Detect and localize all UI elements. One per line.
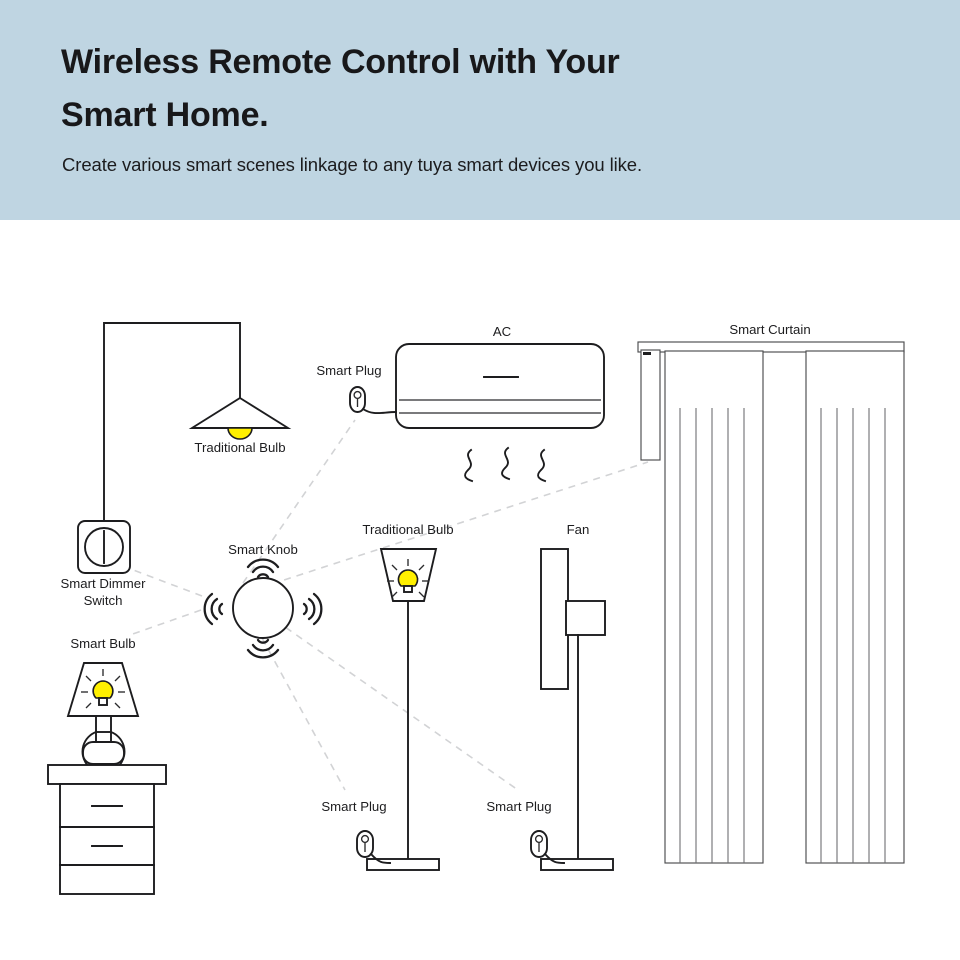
ac-smart-plug[interactable]: Smart Plug bbox=[316, 363, 396, 413]
nightstand-top bbox=[48, 765, 166, 784]
fan-motor-housing bbox=[566, 601, 605, 635]
smart-bulb-bulb-icon bbox=[93, 681, 113, 698]
pendant-lamp-bulb-icon bbox=[228, 428, 252, 439]
diagram-canvas: Traditional Bulb Smart Dimmer Switch Sma… bbox=[0, 220, 960, 960]
smart-dimmer-switch-label-line2: Switch bbox=[84, 593, 123, 608]
floor-lamp-socket bbox=[404, 586, 412, 592]
smart-bulb-lamp[interactable]: Smart Bulb bbox=[48, 636, 166, 894]
floor-lamp[interactable]: Traditional Bulb bbox=[362, 522, 453, 870]
pendant-lamp-wire bbox=[104, 323, 240, 540]
link-knob-to-smart-bulb bbox=[130, 610, 201, 635]
ac-smart-plug-cord bbox=[363, 409, 396, 413]
smart-curtain-label: Smart Curtain bbox=[729, 322, 810, 337]
page-subtitle: Create various smart scenes linkage to a… bbox=[62, 154, 902, 176]
floor-lamp-smart-plug[interactable]: Smart Plug bbox=[321, 799, 390, 863]
air-conditioner-label: AC bbox=[493, 324, 512, 339]
page-root: Wireless Remote Control with Your Smart … bbox=[0, 0, 960, 960]
smart-dimmer-switch[interactable]: Smart Dimmer Switch bbox=[61, 521, 147, 608]
air-conditioner-airflow-icon bbox=[465, 448, 545, 481]
floor-lamp-bulb-icon bbox=[398, 570, 417, 586]
smart-knob-signal-right-icon bbox=[304, 594, 321, 624]
smart-bulb-lamp-base-bottom bbox=[83, 742, 124, 764]
link-knob-to-floorlamp-plug bbox=[256, 627, 345, 790]
smart-knob-label: Smart Knob bbox=[228, 542, 298, 557]
link-knob-to-fan-plug bbox=[275, 620, 518, 790]
air-conditioner[interactable]: AC bbox=[396, 324, 604, 481]
smart-knob-dial[interactable] bbox=[233, 578, 293, 638]
page-title: Wireless Remote Control with Your Smart … bbox=[61, 36, 741, 142]
fan-smart-plug[interactable]: Smart Plug bbox=[486, 799, 564, 863]
pendant-lamp-shade bbox=[192, 398, 288, 428]
pendant-lamp-label: Traditional Bulb bbox=[194, 440, 285, 455]
fan-label: Fan bbox=[567, 522, 590, 537]
header-band: Wireless Remote Control with Your Smart … bbox=[0, 0, 960, 220]
smart-bulb-label: Smart Bulb bbox=[70, 636, 135, 651]
smart-knob-signal-down-icon bbox=[248, 640, 278, 657]
smart-curtain-motor-indicator-icon bbox=[643, 352, 651, 355]
fan-smart-plug-label: Smart Plug bbox=[486, 799, 551, 814]
fan[interactable]: Fan bbox=[541, 522, 613, 870]
floor-lamp-smart-plug-label: Smart Plug bbox=[321, 799, 386, 814]
smart-knob-signal-left-icon bbox=[205, 594, 222, 624]
air-conditioner-body[interactable] bbox=[396, 344, 604, 428]
smart-home-diagram: Traditional Bulb Smart Dimmer Switch Sma… bbox=[0, 220, 960, 960]
floor-lamp-label: Traditional Bulb bbox=[362, 522, 453, 537]
nightstand-body bbox=[60, 784, 154, 894]
fan-head[interactable] bbox=[541, 549, 568, 689]
smart-curtain[interactable]: Smart Curtain bbox=[638, 322, 904, 863]
smart-curtain-motor[interactable] bbox=[641, 350, 660, 460]
smart-bulb-socket bbox=[99, 698, 107, 705]
smart-bulb-lamp-neck bbox=[96, 716, 111, 732]
ac-smart-plug-label: Smart Plug bbox=[316, 363, 381, 378]
smart-dimmer-switch-label-line1: Smart Dimmer bbox=[61, 576, 147, 591]
pendant-lamp: Traditional Bulb bbox=[104, 323, 288, 540]
